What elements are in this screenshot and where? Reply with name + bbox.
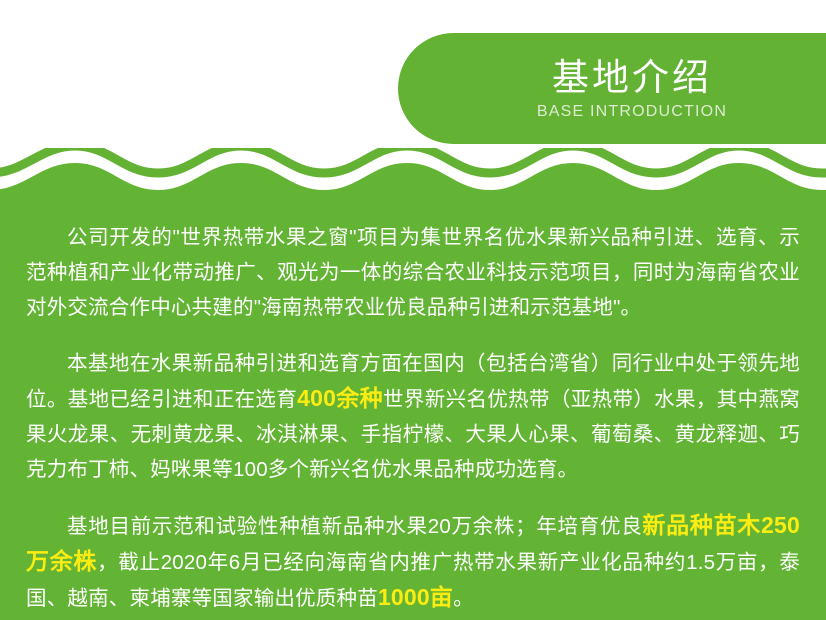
header-banner: 基地介绍 BASE INTRODUCTION — [398, 33, 826, 144]
paragraph-1: 公司开发的"世界热带水果之窗"项目为集世界名优水果新兴品种引进、选育、示范种植和… — [26, 220, 800, 325]
page-subtitle: BASE INTRODUCTION — [537, 102, 727, 122]
page-title: 基地介绍 — [552, 55, 712, 100]
paragraph-2: 本基地在水果新品种引进和选育方面在国内（包括台湾省）同行业中处于领先地位。基地已… — [26, 346, 800, 487]
paragraph-3: 基地目前示范和试验性种植新品种水果20万余株；年培育优良新品种苗木250万余株，… — [26, 508, 800, 616]
slide-root: 基地介绍 BASE INTRODUCTION 公司开发的"世界热带水果之窗"项目… — [0, 0, 826, 620]
paragraph-2-highlight-1: 400余种 — [297, 385, 383, 411]
paragraph-3-part-3: 。 — [453, 587, 474, 610]
paragraph-3-highlight-2: 1000亩 — [378, 584, 453, 610]
paragraph-3-part-1: 基地目前示范和试验性种植新品种水果20万余株；年培育优良 — [67, 515, 642, 538]
content-body: 公司开发的"世界热带水果之窗"项目为集世界名优水果新兴品种引进、选育、示范种植和… — [0, 220, 826, 616]
